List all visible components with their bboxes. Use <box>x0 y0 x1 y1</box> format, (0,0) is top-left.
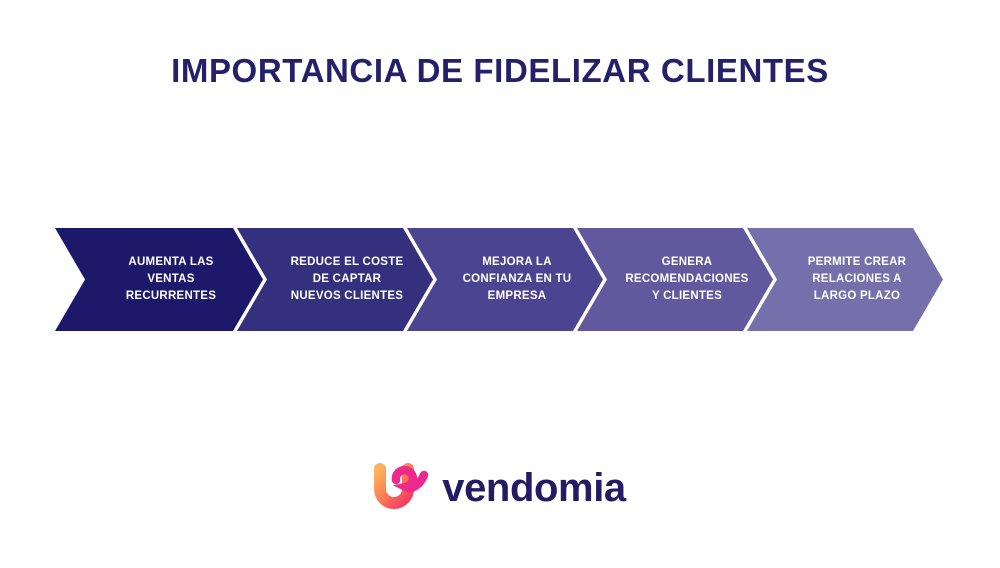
process-step-3-label: MEJORA LA CONFIANZA EN TU EMPRESA <box>429 254 582 304</box>
brand-wordmark: vendomia <box>442 468 626 508</box>
process-step-5-label: PERMITE CREAR RELACIONES A LARGO PLAZO <box>774 254 916 304</box>
process-step-4-label: GENERA RECOMENDACIONES Y CLIENTES <box>591 254 758 304</box>
process-chevron-band: AUMENTA LAS VENTAS RECURRENTES REDUCE EL… <box>55 228 945 331</box>
process-step-1[interactable]: AUMENTA LAS VENTAS RECURRENTES <box>55 228 263 331</box>
process-step-3[interactable]: MEJORA LA CONFIANZA EN TU EMPRESA <box>407 228 603 331</box>
page-header: IMPORTANCIA DE FIDELIZAR CLIENTES <box>0 52 1000 90</box>
process-step-2-label: REDUCE EL COSTE DE CAPTAR NUEVOS CLIENTE… <box>257 254 414 304</box>
process-step-4[interactable]: GENERA RECOMENDACIONES Y CLIENTES <box>577 228 773 331</box>
page-title: IMPORTANCIA DE FIDELIZAR CLIENTES <box>0 52 1000 90</box>
vendomia-v-swoosh-icon <box>374 463 432 513</box>
brand-logo: vendomia <box>0 463 1000 513</box>
process-step-2[interactable]: REDUCE EL COSTE DE CAPTAR NUEVOS CLIENTE… <box>237 228 433 331</box>
process-step-5[interactable]: PERMITE CREAR RELACIONES A LARGO PLAZO <box>747 228 943 331</box>
process-step-1-label: AUMENTA LAS VENTAS RECURRENTES <box>92 254 226 304</box>
